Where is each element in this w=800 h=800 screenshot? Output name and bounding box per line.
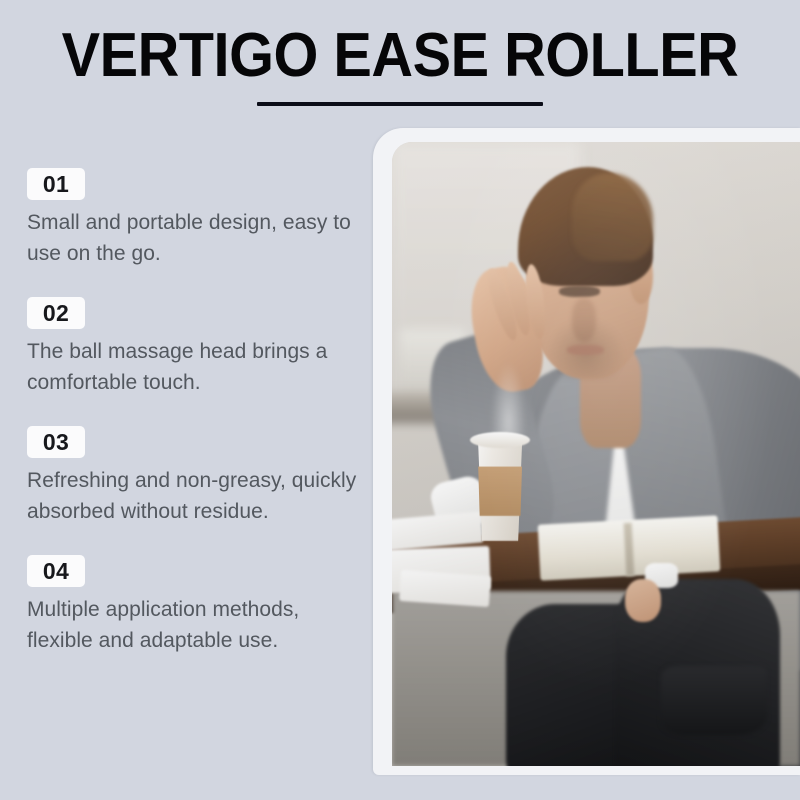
feature-item: 01 Small and portable design, easy to us… [27, 168, 363, 269]
feature-number-badge: 03 [27, 426, 85, 458]
paper-sheet [399, 569, 491, 606]
feature-description: Multiple application methods, flexible a… [27, 594, 363, 656]
coffee-cup-sleeve [475, 466, 525, 516]
title-underline-rule [257, 102, 543, 106]
feature-number-badge: 04 [27, 555, 85, 587]
nose [572, 298, 596, 342]
feature-item: 04 Multiple application methods, flexibl… [27, 555, 363, 656]
photo-frame [373, 128, 800, 775]
product-infographic: VERTIGO EASE ROLLER 01 Small and portabl… [0, 0, 800, 800]
feature-item: 03 Refreshing and non-greasy, quickly ab… [27, 426, 363, 527]
feature-number-badge: 02 [27, 297, 85, 329]
title-block: VERTIGO EASE ROLLER [0, 22, 800, 106]
feature-list: 01 Small and portable design, easy to us… [27, 168, 363, 656]
feature-description: Small and portable design, easy to use o… [27, 207, 363, 269]
feature-item: 02 The ball massage head brings a comfor… [27, 297, 363, 398]
mouth [567, 345, 604, 355]
photo-scene [392, 142, 800, 766]
coffee-cup-rim [470, 432, 530, 448]
lifestyle-photo [392, 142, 800, 766]
closed-eye [559, 286, 600, 297]
chair-base [661, 666, 767, 735]
page-title: VERTIGO EASE ROLLER [28, 22, 772, 90]
resting-hand [625, 579, 662, 623]
feature-description: Refreshing and non-greasy, quickly absor… [27, 465, 363, 527]
feature-number-badge: 01 [27, 168, 85, 200]
feature-description: The ball massage head brings a comfortab… [27, 336, 363, 398]
